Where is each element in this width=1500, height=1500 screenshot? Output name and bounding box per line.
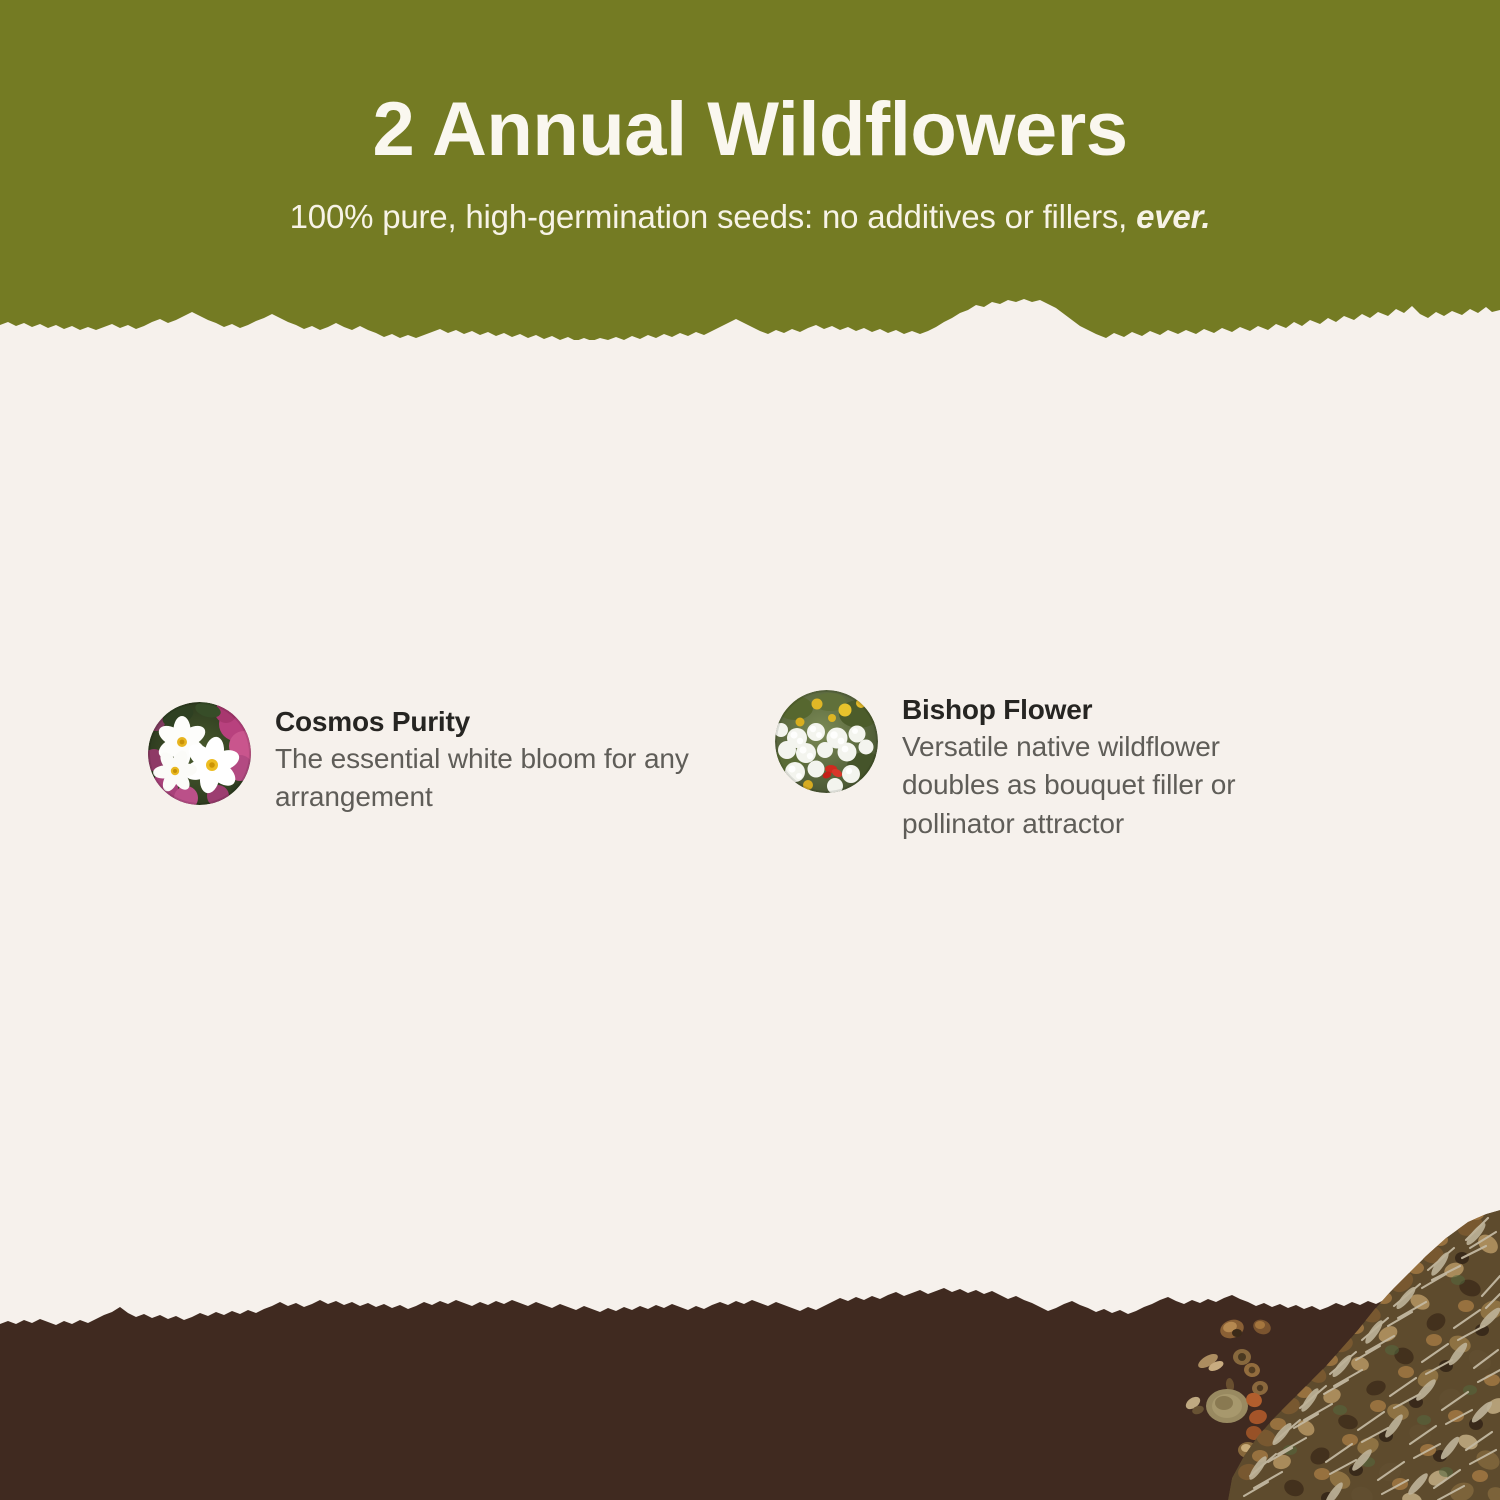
feature-name: Cosmos Purity bbox=[275, 704, 745, 740]
subtitle-emphasis: ever. bbox=[1136, 198, 1210, 235]
seed-mound bbox=[1228, 1210, 1500, 1500]
page-title: 2 Annual Wildflowers bbox=[0, 0, 1500, 168]
seed-packet-infographic: 2 Annual Wildflowers 100% pure, high-ger… bbox=[0, 0, 1500, 1500]
bishop-flower-photo-icon bbox=[775, 690, 878, 793]
header-band: 2 Annual Wildflowers 100% pure, high-ger… bbox=[0, 0, 1500, 340]
cosmos-flower-photo-icon bbox=[148, 702, 251, 805]
feature-text-block: Bishop Flower Versatile native wildflowe… bbox=[878, 690, 1292, 844]
list-item[interactable]: Bishop Flower Versatile native wildflowe… bbox=[775, 690, 1375, 844]
subtitle-text: 100% pure, high-germination seeds: no ad… bbox=[290, 198, 1136, 235]
feature-description: The essential white bloom for any arrang… bbox=[275, 740, 745, 817]
page-subtitle: 100% pure, high-germination seeds: no ad… bbox=[0, 168, 1500, 237]
feature-name: Bishop Flower bbox=[902, 692, 1292, 728]
list-item[interactable]: Cosmos Purity The essential white bloom … bbox=[148, 702, 748, 817]
feature-text-block: Cosmos Purity The essential white bloom … bbox=[251, 702, 745, 817]
header-text: 2 Annual Wildflowers 100% pure, high-ger… bbox=[0, 0, 1500, 237]
seed-pile-photo-icon bbox=[1170, 1210, 1500, 1500]
feature-description: Versatile native wildflower doubles as b… bbox=[902, 728, 1292, 844]
